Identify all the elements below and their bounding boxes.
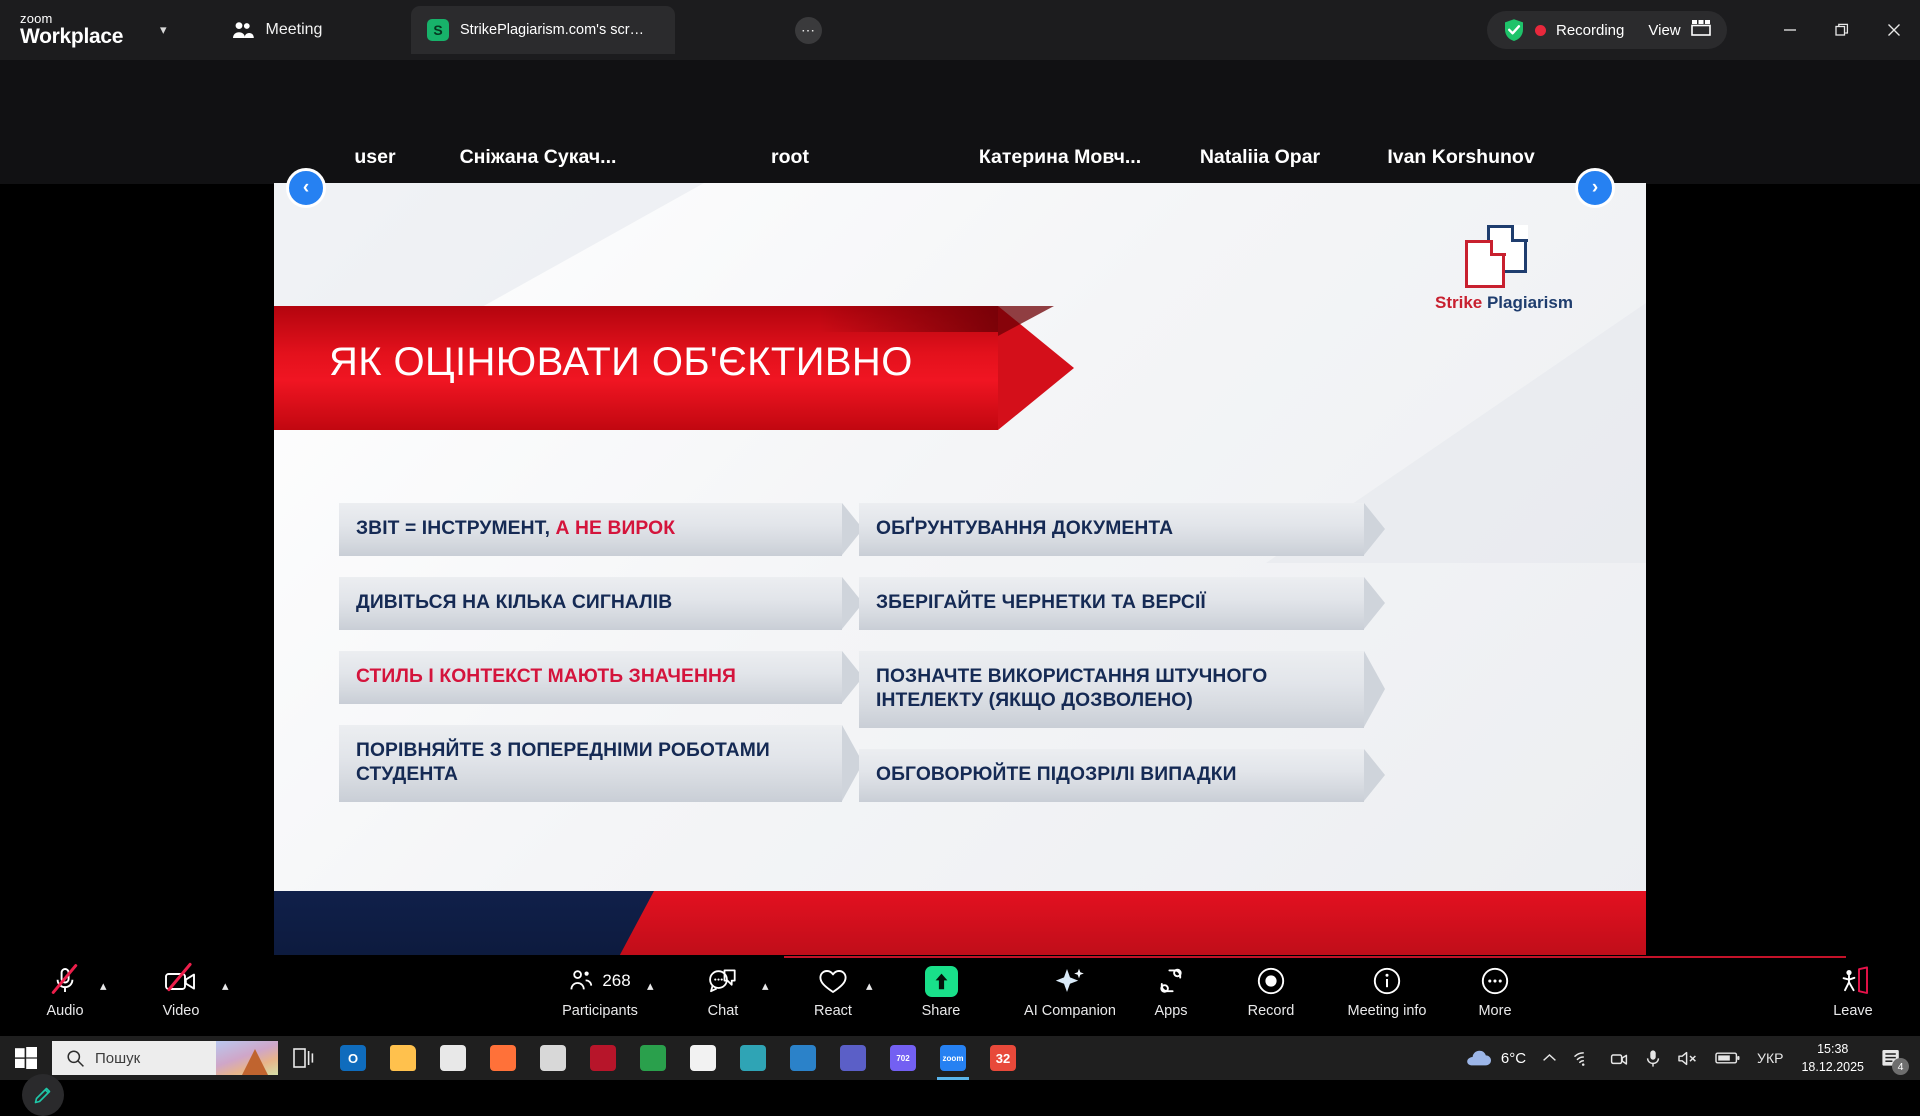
meeting-info-button[interactable]: Meeting info	[1322, 964, 1452, 1019]
more-ellipsis-icon	[1481, 964, 1509, 998]
tray-overflow-button[interactable]	[1534, 1036, 1565, 1080]
slide-bullet-body: ПОРІВНЯЙТЕ З ПОПЕРЕДНІМИ РОБОТАМИ СТУДЕН…	[339, 725, 842, 802]
slide-left-column: ЗВІТ = ІНСТРУМЕНТ, А НЕ ВИРОКДИВІТЬСЯ НА…	[339, 503, 842, 823]
share-source-badge: S	[427, 19, 449, 41]
participant-display-name: root	[730, 146, 850, 169]
camera-muted-icon	[164, 964, 198, 998]
chat-options-caret[interactable]: ▴	[762, 978, 769, 994]
apps-icon	[1156, 964, 1186, 998]
heart-icon	[818, 964, 848, 998]
slide-title: ЯК ОЦІНЮВАТИ ОБ'ЄКТИВНО	[329, 340, 913, 385]
slide-title-banner: ЯК ОЦІНЮВАТИ ОБ'ЄКТИВНО	[274, 306, 1074, 430]
taskbar-zoom-icon[interactable]: zoom	[928, 1036, 978, 1080]
slide-bullet-body: ПОЗНАЧТЕ ВИКОРИСТАННЯ ШТУЧНОГО ІНТЕЛЕКТУ…	[859, 651, 1364, 728]
info-icon	[1373, 964, 1401, 998]
participant-display-name: Сніжана Сукач...	[436, 146, 641, 169]
slide-right-column: ОБҐРУНТУВАННЯ ДОКУМЕНТАЗБЕРІГАЙТЕ ЧЕРНЕТ…	[859, 503, 1364, 823]
record-icon	[1257, 964, 1285, 998]
close-button[interactable]	[1868, 0, 1920, 60]
taskbar-file-explorer-icon[interactable]	[378, 1036, 428, 1080]
participants-icon: 268	[569, 964, 630, 998]
react-button[interactable]: React	[790, 964, 876, 1019]
record-button[interactable]: Record	[1228, 964, 1314, 1019]
logo-wordmark: Strike Plagiarism	[1435, 293, 1570, 313]
ai-sparkle-icon	[1054, 964, 1086, 998]
taskbar-krita-icon[interactable]	[578, 1036, 628, 1080]
app-glyph	[840, 1045, 866, 1071]
logo-word-strike: Strike	[1435, 293, 1482, 312]
participant-display-name: Nataliia Opar	[1178, 146, 1343, 169]
taskbar-microsoft-store-icon[interactable]	[678, 1036, 728, 1080]
slide-bullet-arrow-tip	[1364, 749, 1385, 801]
meeting-tab-label: Meeting	[266, 21, 323, 39]
meeting-tab[interactable]: Meeting	[217, 13, 337, 48]
react-options-caret[interactable]: ▴	[866, 978, 873, 994]
taskbar-snipping-tool-icon[interactable]	[528, 1036, 578, 1080]
chat-icon	[708, 964, 738, 998]
slide-bullet-item: ЗВІТ = ІНСТРУМЕНТ, А НЕ ВИРОК	[339, 503, 842, 556]
language-indicator[interactable]: УКР	[1749, 1036, 1791, 1080]
clock-date: 18.12.2025	[1801, 1058, 1864, 1076]
slide-bullet-body: ОБҐРУНТУВАННЯ ДОКУМЕНТА	[859, 503, 1364, 556]
taskbar-chrome-icon[interactable]	[628, 1036, 678, 1080]
slide-bullet-body: ЗВІТ = ІНСТРУМЕНТ, А НЕ ВИРОК	[339, 503, 842, 556]
participant-filmstrip: ‹ › useruserСніжана Сукач...Сніжана Сука…	[0, 60, 1920, 184]
zoom-meeting-toolbar: Audio ▴ Video ▴ 268 Participants ▴	[0, 956, 1920, 1036]
more-button[interactable]: More	[1452, 964, 1538, 1019]
search-placeholder: Пошук	[95, 1050, 140, 1067]
app-glyph	[640, 1045, 666, 1071]
weather-widget[interactable]: 6°C	[1457, 1036, 1534, 1080]
slide-bullet-text: ЗБЕРІГАЙТЕ ЧЕРНЕТКИ ТА ВЕРСІЇ	[876, 591, 1206, 615]
tab-more-button[interactable]: ⋯	[795, 17, 822, 44]
participant-display-name: user	[300, 146, 450, 169]
system-tray: 6°C	[1457, 1036, 1920, 1080]
app-glyph	[490, 1045, 516, 1071]
taskbar-outlook-icon[interactable]: O	[328, 1036, 378, 1080]
brand-line-zoom: zoom	[20, 12, 150, 26]
wifi-status-icon[interactable]	[1565, 1036, 1601, 1080]
leave-label: Leave	[1833, 1003, 1873, 1019]
participants-options-caret[interactable]: ▴	[647, 978, 654, 994]
search-icon	[66, 1049, 85, 1068]
microphone-status-icon[interactable]	[1637, 1036, 1669, 1080]
slide-bullet-body: СТИЛЬ І КОНТЕКСТ МАЮТЬ ЗНАЧЕННЯ	[339, 651, 842, 704]
app-glyph: zoom	[940, 1045, 966, 1071]
minimize-button[interactable]	[1764, 0, 1816, 60]
slide-bullet-arrow-tip	[1364, 503, 1385, 555]
slide-bullet-item: СТИЛЬ І КОНТЕКСТ МАЮТЬ ЗНАЧЕННЯ	[339, 651, 842, 704]
video-label: Video	[163, 1003, 200, 1019]
leave-door-icon	[1837, 964, 1869, 998]
presentation-slide: Strike Plagiarism ЯК ОЦІНЮВАТИ ОБ'ЄКТИВН…	[274, 183, 1646, 955]
chevron-down-icon[interactable]: ▾	[160, 22, 167, 38]
window-controls	[1764, 0, 1920, 60]
document-red-icon	[1465, 240, 1505, 288]
app-glyph	[740, 1045, 766, 1071]
notification-center-button[interactable]: 4	[1874, 1036, 1914, 1080]
pencil-icon	[32, 1084, 54, 1106]
app-glyph	[590, 1045, 616, 1071]
slide-footer-band	[274, 891, 1646, 955]
notification-count: 4	[1892, 1058, 1909, 1075]
logo-word-plagiarism: Plagiarism	[1482, 293, 1573, 312]
slide-bullet-item: ДИВІТЬСЯ НА КІЛЬКА СИГНАЛІВ	[339, 577, 842, 630]
slide-bullet-text: ПОРІВНЯЙТЕ З ПОПЕРЕДНІМИ РОБОТАМИ СТУДЕН…	[356, 739, 820, 787]
view-layout-icon[interactable]	[1691, 19, 1711, 41]
microphone-muted-icon	[52, 964, 78, 998]
logo-document-marks	[1435, 223, 1570, 279]
app-glyph: 32	[990, 1045, 1016, 1071]
annotate-pencil-button[interactable]	[22, 1074, 64, 1116]
react-label: React	[814, 1003, 852, 1019]
taskbar-pdf-reader-icon[interactable]	[428, 1036, 478, 1080]
taskbar-app-list: O702zoom32	[278, 1036, 1028, 1080]
app-glyph: O	[340, 1045, 366, 1071]
meeting-info-label: Meeting info	[1348, 1003, 1427, 1019]
recording-label: Recording	[1556, 22, 1624, 39]
participants-button[interactable]: 268 Participants	[540, 964, 660, 1019]
filmstrip-next-button[interactable]: ›	[1575, 168, 1615, 208]
more-label: More	[1478, 1003, 1511, 1019]
share-label: Share	[922, 1003, 961, 1019]
apps-label: Apps	[1154, 1003, 1187, 1019]
slide-bullet-text-accent: А НЕ ВИРОК	[556, 518, 676, 539]
slide-bullet-text: ДИВІТЬСЯ НА КІЛЬКА СИГНАЛІВ	[356, 591, 672, 615]
taskbar-edge-legacy-icon[interactable]	[728, 1036, 778, 1080]
clock-time: 15:38	[1817, 1040, 1848, 1058]
zoom-title-bar: zoom Workplace ▾ Meeting S StrikePlagiar…	[0, 0, 1920, 60]
record-label: Record	[1248, 1003, 1295, 1019]
title-banner-shadow	[820, 306, 998, 332]
recording-indicator-dot	[1535, 25, 1546, 36]
encryption-shield-icon[interactable]	[1503, 18, 1525, 42]
taskbar-notes-icon[interactable]: 32	[978, 1036, 1028, 1080]
camera-status-icon[interactable]	[1601, 1036, 1637, 1080]
audio-options-caret[interactable]: ▴	[100, 978, 107, 994]
slide-bullet-arrow-tip	[1364, 577, 1385, 629]
view-button[interactable]: View	[1648, 22, 1680, 39]
video-options-caret[interactable]: ▴	[222, 978, 229, 994]
windows-logo-icon	[15, 1047, 37, 1069]
weather-temperature: 6°C	[1501, 1050, 1526, 1067]
slide-bullet-text: ЗВІТ = ІНСТРУМЕНТ, А НЕ ВИРОК	[356, 517, 675, 541]
brand-line-workplace: Workplace	[20, 26, 150, 48]
taskbar-edge-icon[interactable]	[778, 1036, 828, 1080]
screen-share-tab[interactable]: S StrikePlagiarism.com's screen	[411, 6, 675, 54]
slide-bullet-item: ПОЗНАЧТЕ ВИКОРИСТАННЯ ШТУЧНОГО ІНТЕЛЕКТУ…	[859, 651, 1364, 728]
footer-red-shape	[590, 891, 1646, 955]
shared-screen-stage: Strike Plagiarism ЯК ОЦІНЮВАТИ ОБ'ЄКТИВН…	[0, 184, 1920, 956]
apps-button[interactable]: Apps	[1128, 964, 1214, 1019]
title-banner-arrow-shadow	[998, 306, 1054, 336]
chat-label: Chat	[708, 1003, 739, 1019]
restore-button[interactable]	[1816, 0, 1868, 60]
ai-companion-label: AI Companion	[1024, 1003, 1116, 1019]
people-icon	[231, 21, 255, 40]
battery-status-icon[interactable]	[1707, 1036, 1749, 1080]
slide-bullet-body: ЗБЕРІГАЙТЕ ЧЕРНЕТКИ ТА ВЕРСІЇ	[859, 577, 1364, 630]
app-glyph	[690, 1045, 716, 1071]
slide-bullet-body: ОБГОВОРЮЙТЕ ПІДОЗРІЛІ ВИПАДКИ	[859, 749, 1364, 802]
app-glyph	[540, 1045, 566, 1071]
chat-button[interactable]: Chat	[680, 964, 766, 1019]
slide-bullet-arrow-tip	[1364, 651, 1385, 727]
taskbar-clock[interactable]: 15:38 18.12.2025	[1791, 1036, 1874, 1080]
share-active-border	[784, 956, 1846, 958]
participant-display-name: Катерина Мовч...	[953, 146, 1168, 169]
share-button[interactable]: Share	[898, 964, 984, 1019]
slide-bullet-body: ДИВІТЬСЯ НА КІЛЬКА СИГНАЛІВ	[339, 577, 842, 630]
participant-display-name: Ivan Korshunov	[1372, 146, 1550, 169]
slide-bullet-text: ОБГОВОРЮЙТЕ ПІДОЗРІЛІ ВИПАДКИ	[876, 763, 1237, 787]
slide-bullet-item: ПОРІВНЯЙТЕ З ПОПЕРЕДНІМИ РОБОТАМИ СТУДЕН…	[339, 725, 842, 802]
slide-bullet-text: ПОЗНАЧТЕ ВИКОРИСТАННЯ ШТУЧНОГО ІНТЕЛЕКТУ…	[876, 665, 1342, 713]
windows-taskbar: Пошук O702zoom32 6°C	[0, 1036, 1920, 1080]
taskbar-teams-icon[interactable]	[828, 1036, 878, 1080]
app-glyph: 702	[890, 1045, 916, 1071]
share-tab-label: StrikePlagiarism.com's screen	[460, 22, 645, 38]
filmstrip-prev-button[interactable]: ‹	[286, 168, 326, 208]
zoom-brand-logo: zoom Workplace	[0, 12, 150, 48]
participants-count: 268	[602, 971, 630, 991]
app-glyph	[440, 1045, 466, 1071]
ai-companion-button[interactable]: AI Companion	[1000, 964, 1140, 1019]
audio-button[interactable]: Audio	[22, 964, 108, 1019]
slide-bullet-item: ЗБЕРІГАЙТЕ ЧЕРНЕТКИ ТА ВЕРСІЇ	[859, 577, 1364, 630]
video-button[interactable]: Video	[138, 964, 224, 1019]
chevron-up-icon	[1542, 1052, 1557, 1064]
taskbar-viber-icon[interactable]: 702	[878, 1036, 928, 1080]
volume-muted-icon[interactable]	[1669, 1036, 1707, 1080]
leave-button[interactable]: Leave	[1810, 964, 1896, 1019]
slide-bullet-text: СТИЛЬ І КОНТЕКСТ МАЮТЬ ЗНАЧЕННЯ	[356, 665, 736, 689]
audio-label: Audio	[46, 1003, 83, 1019]
meeting-status-pill: Recording View	[1487, 11, 1727, 49]
participants-label: Participants	[562, 1003, 638, 1019]
slide-bullet-item: ОБҐРУНТУВАННЯ ДОКУМЕНТА	[859, 503, 1364, 556]
search-highlight-thumbnail	[216, 1041, 278, 1075]
taskbar-task-view-icon[interactable]	[278, 1036, 328, 1080]
taskbar-search-input[interactable]: Пошук	[52, 1041, 278, 1075]
app-glyph	[790, 1045, 816, 1071]
taskbar-firefox-icon[interactable]	[478, 1036, 528, 1080]
share-screen-icon	[925, 964, 958, 998]
strikeplagiarism-logo: Strike Plagiarism	[1435, 223, 1570, 313]
slide-bullet-text: ОБҐРУНТУВАННЯ ДОКУМЕНТА	[876, 517, 1173, 541]
app-glyph	[390, 1045, 416, 1071]
slide-bullet-item: ОБГОВОРЮЙТЕ ПІДОЗРІЛІ ВИПАДКИ	[859, 749, 1364, 802]
cloud-icon	[1465, 1049, 1493, 1068]
